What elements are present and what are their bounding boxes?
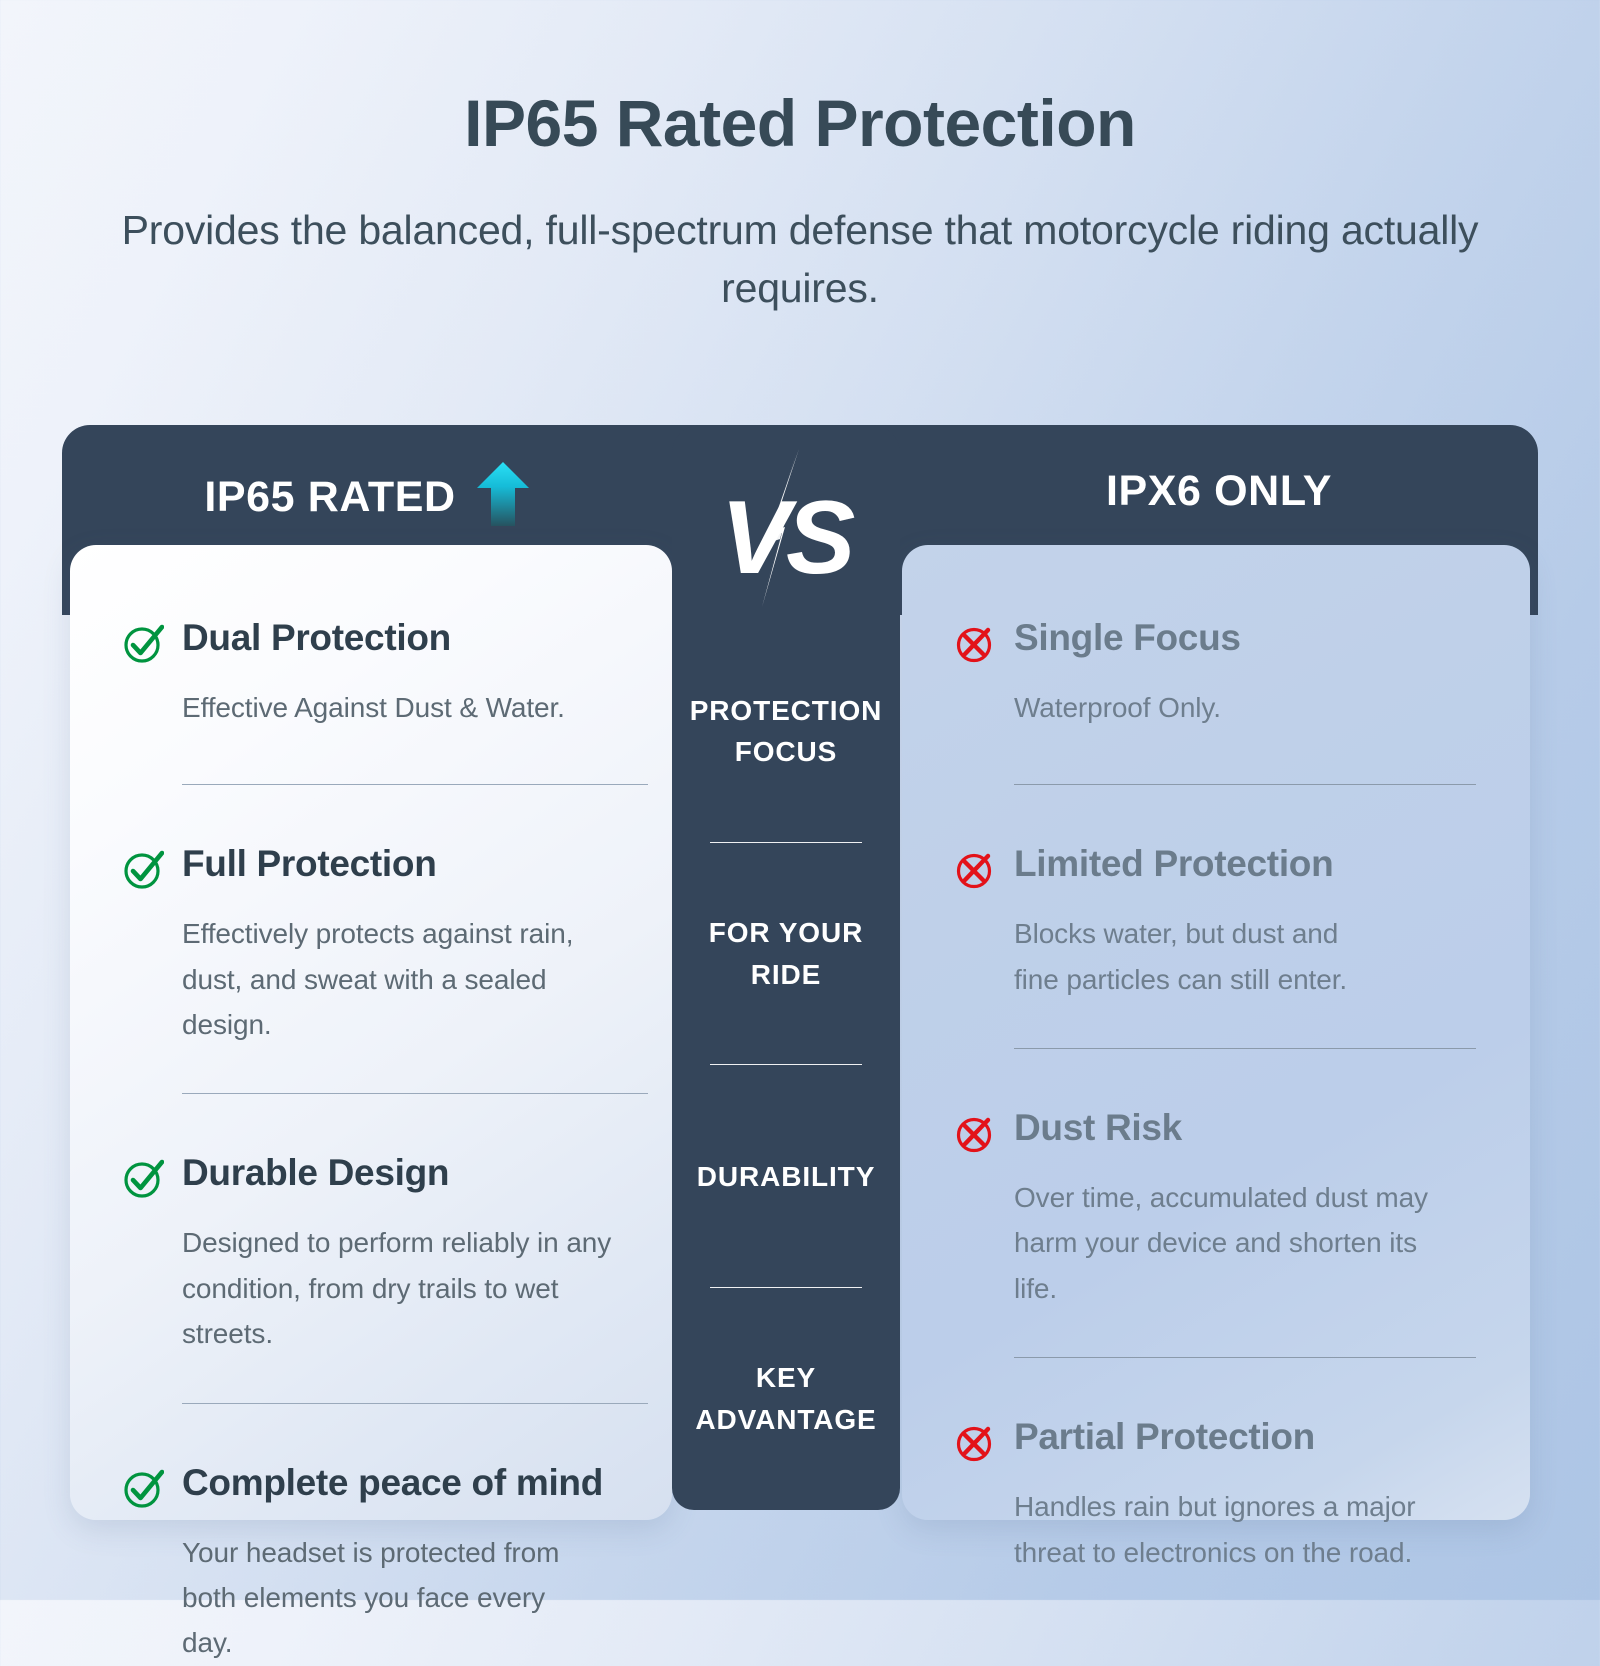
vs-badge-icon: VS	[672, 447, 900, 617]
divider	[1014, 1357, 1476, 1358]
cross-circle-icon	[954, 1422, 996, 1464]
center-label: FOR YOUR RIDE	[672, 912, 900, 995]
cross-circle-icon	[954, 849, 996, 891]
cross-circle-icon	[954, 1113, 996, 1155]
svg-text:VS: VS	[721, 480, 855, 596]
list-item: Complete peace of mind Your headset is p…	[122, 1462, 618, 1666]
divider	[182, 1403, 648, 1404]
list-item: Limited Protection Blocks water, but dus…	[954, 843, 1476, 1002]
column-header-ip65: IP65 RATED	[62, 467, 672, 527]
feature-title: Complete peace of mind	[182, 1462, 603, 1503]
comparison-table: IP65 RATED IPX6 ONLY	[62, 425, 1538, 1520]
column-header-ip65-label: IP65 RATED	[204, 473, 455, 522]
feature-description: Designed to perform reliably in any cond…	[122, 1220, 618, 1356]
check-circle-icon	[122, 1468, 164, 1510]
feature-description: Blocks water, but dust and fine particle…	[954, 911, 1374, 1002]
feature-title: Single Focus	[1014, 617, 1241, 658]
center-label: KEY ADVANTAGE	[672, 1357, 900, 1440]
feature-description: Effectively protects against rain, dust,…	[122, 911, 618, 1047]
check-circle-icon	[122, 1158, 164, 1200]
up-arrow-icon	[476, 467, 530, 527]
header-block: IP65 Rated Protection Provides the balan…	[0, 0, 1600, 318]
center-label-cell: DURABILITY	[672, 1065, 900, 1288]
ipx6-card: Single Focus Waterproof Only. Limited Pr…	[902, 545, 1530, 1520]
list-item: Partial Protection Handles rain but igno…	[954, 1416, 1476, 1575]
ipx6-feature-list: Single Focus Waterproof Only. Limited Pr…	[902, 545, 1530, 1575]
feature-title: Full Protection	[182, 843, 437, 884]
feature-description: Handles rain but ignores a major threat …	[954, 1484, 1454, 1575]
page-title: IP65 Rated Protection	[0, 88, 1600, 159]
feature-description: Waterproof Only.	[954, 685, 1476, 730]
center-label-cell: KEY ADVANTAGE	[672, 1288, 900, 1511]
page-subtitle: Provides the balanced, full-spectrum def…	[60, 201, 1540, 317]
cross-circle-icon	[954, 623, 996, 665]
center-label-cell: FOR YOUR RIDE	[672, 843, 900, 1066]
list-item: Single Focus Waterproof Only.	[954, 617, 1476, 730]
list-item: Dual Protection Effective Against Dust &…	[122, 617, 618, 730]
divider	[1014, 784, 1476, 785]
center-label: DURABILITY	[685, 1156, 888, 1197]
column-header-ipx6-label: IPX6 ONLY	[1106, 467, 1332, 515]
feature-title: Dust Risk	[1014, 1107, 1182, 1148]
check-circle-icon	[122, 623, 164, 665]
center-label: PROTECTION FOCUS	[672, 690, 900, 773]
ip65-card: Dual Protection Effective Against Dust &…	[70, 545, 672, 1520]
list-item: Durable Design Designed to perform relia…	[122, 1152, 618, 1356]
check-circle-icon	[122, 849, 164, 891]
divider	[1014, 1048, 1476, 1049]
ip65-feature-list: Dual Protection Effective Against Dust &…	[70, 545, 672, 1666]
list-item: Dust Risk Over time, accumulated dust ma…	[954, 1107, 1476, 1311]
feature-title: Durable Design	[182, 1152, 449, 1193]
divider	[182, 1093, 648, 1094]
feature-title: Dual Protection	[182, 617, 451, 658]
list-item: Full Protection Effectively protects aga…	[122, 843, 618, 1047]
comparison-center-spine: VS PROTECTION FOCUS FOR YOUR RIDE DURABI…	[672, 425, 900, 1510]
feature-description: Effective Against Dust & Water.	[122, 685, 618, 730]
column-header-ipx6: IPX6 ONLY	[900, 467, 1538, 516]
feature-description: Over time, accumulated dust may harm you…	[954, 1175, 1434, 1311]
feature-title: Partial Protection	[1014, 1416, 1315, 1457]
center-label-cell: PROTECTION FOCUS	[672, 620, 900, 843]
divider	[182, 784, 648, 785]
center-label-column: PROTECTION FOCUS FOR YOUR RIDE DURABILIT…	[672, 620, 900, 1510]
feature-description: Your headset is protected from both elem…	[122, 1530, 562, 1666]
feature-title: Limited Protection	[1014, 843, 1333, 884]
